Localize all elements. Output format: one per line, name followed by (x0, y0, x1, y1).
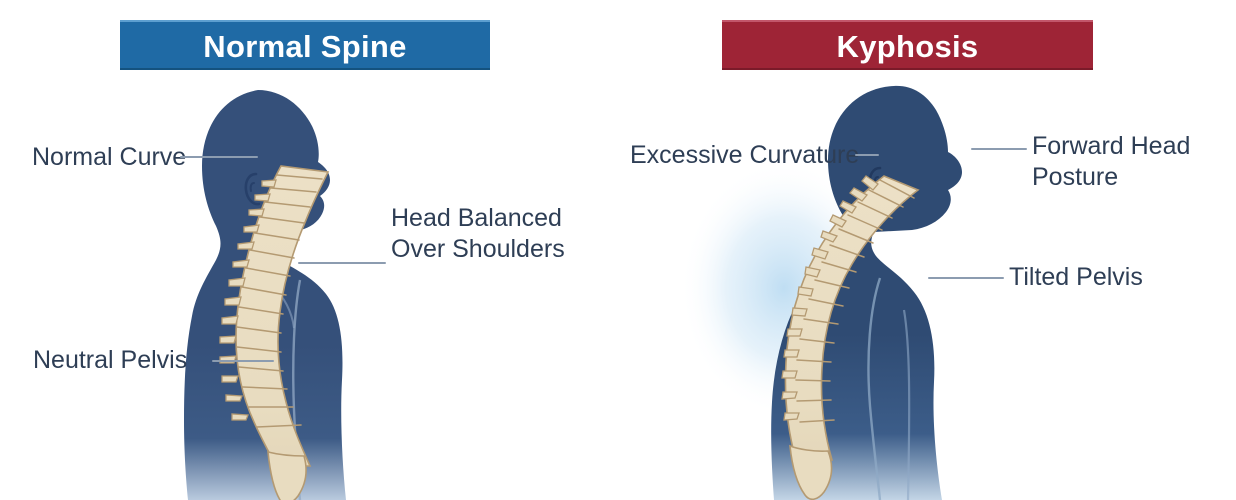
leader-head-balanced (298, 262, 386, 264)
label-neutral-pelvis: Neutral Pelvis (33, 345, 187, 376)
label-head-balanced: Head Balanced Over Shoulders (391, 203, 565, 265)
banner-normal-spine: Normal Spine (120, 20, 490, 70)
label-tilted-pelvis: Tilted Pelvis (1009, 262, 1143, 293)
label-forward-head-posture: Forward Head Posture (1032, 131, 1190, 193)
panel-normal-spine: Normal Spine (0, 0, 618, 500)
figure-normal-spine (150, 80, 480, 500)
panel-kyphosis: Kyphosis (618, 0, 1236, 500)
banner-kyphosis: Kyphosis (722, 20, 1093, 70)
leader-excessive-curvature (855, 154, 879, 156)
label-normal-curve: Normal Curve (32, 142, 186, 173)
label-excessive-curvature: Excessive Curvature (630, 140, 859, 171)
leader-normal-curve (180, 156, 258, 158)
spine-comparison-diagram: Normal Spine (0, 0, 1236, 500)
leader-tilted-pelvis (928, 277, 1004, 279)
leader-forward-head-posture (971, 148, 1027, 150)
leader-neutral-pelvis (212, 360, 274, 362)
